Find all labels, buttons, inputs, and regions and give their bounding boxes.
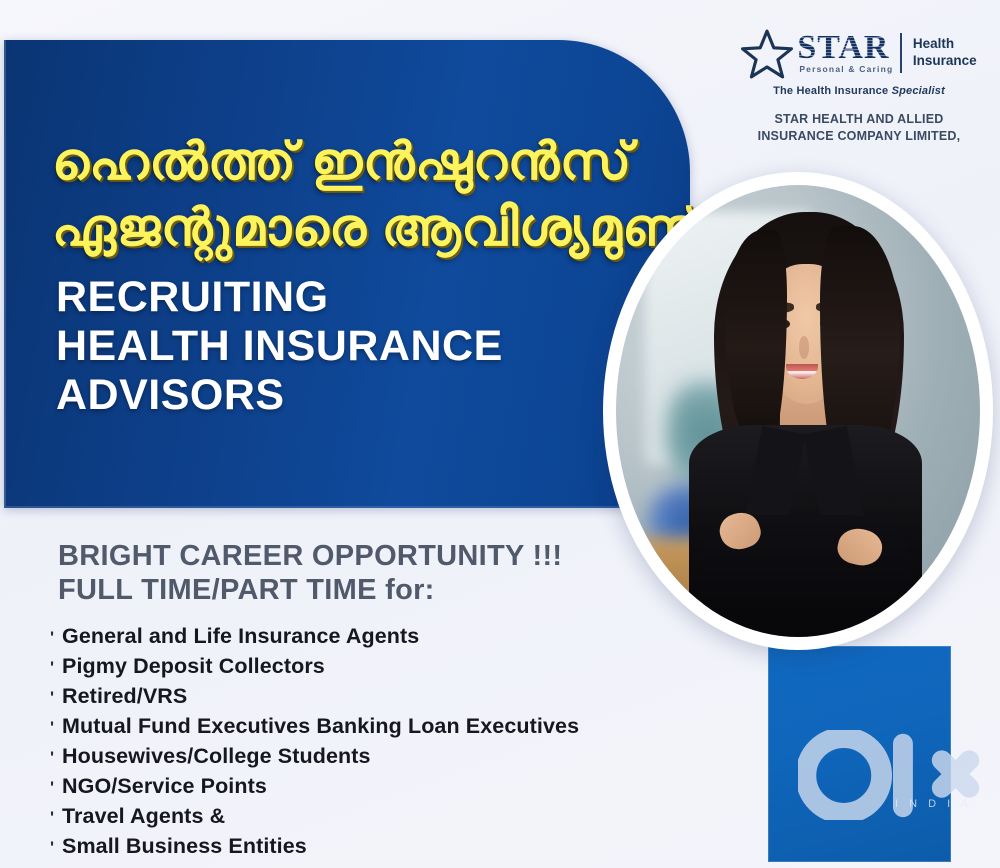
olx-region-label: I N D I A [895, 798, 972, 810]
list-item-label: Pigmy Deposit Collectors [62, 656, 325, 678]
list-item: 'Small Business Entities [50, 836, 579, 858]
company-legal-name-line-2: INSURANCE COMPANY LIMITED, [740, 128, 978, 145]
headline-line-3: ADVISORS [56, 374, 285, 417]
malayalam-headline-line-1: ഹെൽത്ത് ഇൻഷുറൻസ് [52, 132, 632, 193]
bullet-marker-icon: ' [50, 839, 62, 856]
headline-line-1: RECRUITING [56, 276, 329, 319]
list-item: 'Housewives/College Students [50, 746, 579, 768]
list-item-label: Travel Agents & [62, 806, 225, 828]
logo-tagline-italic: Specialist [892, 85, 945, 97]
list-item: 'Travel Agents & [50, 806, 579, 828]
list-item-label: General and Life Insurance Agents [62, 626, 419, 648]
brand-wordmark: STAR Personal & Caring [797, 32, 893, 73]
brand-subtitle: Personal & Caring [797, 64, 893, 74]
bullet-marker-icon: ' [50, 809, 62, 826]
list-item: 'Pigmy Deposit Collectors [50, 656, 579, 678]
bullet-marker-icon: ' [50, 779, 62, 796]
list-item: 'NGO/Service Points [50, 776, 579, 798]
target-audience-list: 'General and Life Insurance Agents'Pigmy… [50, 626, 579, 866]
portrait-image [616, 185, 980, 637]
sub-headline-line-1: BRIGHT CAREER OPPORTUNITY !!! [58, 540, 562, 573]
list-item: 'General and Life Insurance Agents [50, 626, 579, 648]
list-item-label: NGO/Service Points [62, 776, 267, 798]
logo-category: Health Insurance [913, 36, 977, 70]
logo-tagline: The Health Insurance Specialist [740, 85, 978, 97]
star-icon [741, 28, 793, 80]
bullet-marker-icon: ' [50, 749, 62, 766]
list-item-label: Retired/VRS [62, 686, 187, 708]
bullet-marker-icon: ' [50, 629, 62, 646]
bullet-marker-icon: ' [50, 689, 62, 706]
headline-line-2: HEALTH INSURANCE [56, 325, 503, 368]
list-item-label: Small Business Entities [62, 836, 307, 858]
list-item: 'Mutual Fund Executives Banking Loan Exe… [50, 716, 579, 738]
company-legal-name: STAR HEALTH AND ALLIED INSURANCE COMPANY… [740, 111, 978, 145]
star-health-logo-block: STAR Personal & Caring Health Insurance … [740, 26, 978, 145]
logo-row: STAR Personal & Caring Health Insurance [740, 26, 978, 80]
advisor-portrait-photo [603, 172, 993, 650]
logo-category-line-2: Insurance [913, 53, 977, 70]
brand-name: STAR [797, 32, 893, 64]
bullet-marker-icon: ' [50, 719, 62, 736]
logo-tagline-prefix: The Health Insurance [773, 85, 892, 97]
person-figure [616, 185, 980, 637]
list-item-label: Mutual Fund Executives Banking Loan Exec… [62, 716, 579, 738]
poster-canvas: ഹെൽത്ത് ഇൻഷുറൻസ് ഏജന്റുമാരെ ആവിശ്യമുണ്ട്… [0, 0, 1000, 868]
sub-headline-line-2: FULL TIME/PART TIME for: [58, 574, 435, 607]
person-nose [799, 336, 808, 359]
logo-divider [900, 33, 902, 73]
list-item: 'Retired/VRS [50, 686, 579, 708]
malayalam-headline-line-2: ഏജന്റുമാരെ ആവിശ്യമുണ്ട് [52, 198, 698, 259]
list-item-label: Housewives/College Students [62, 746, 371, 768]
logo-category-line-1: Health [913, 36, 977, 53]
company-legal-name-line-1: STAR HEALTH AND ALLIED [740, 111, 978, 128]
bullet-marker-icon: ' [50, 659, 62, 676]
